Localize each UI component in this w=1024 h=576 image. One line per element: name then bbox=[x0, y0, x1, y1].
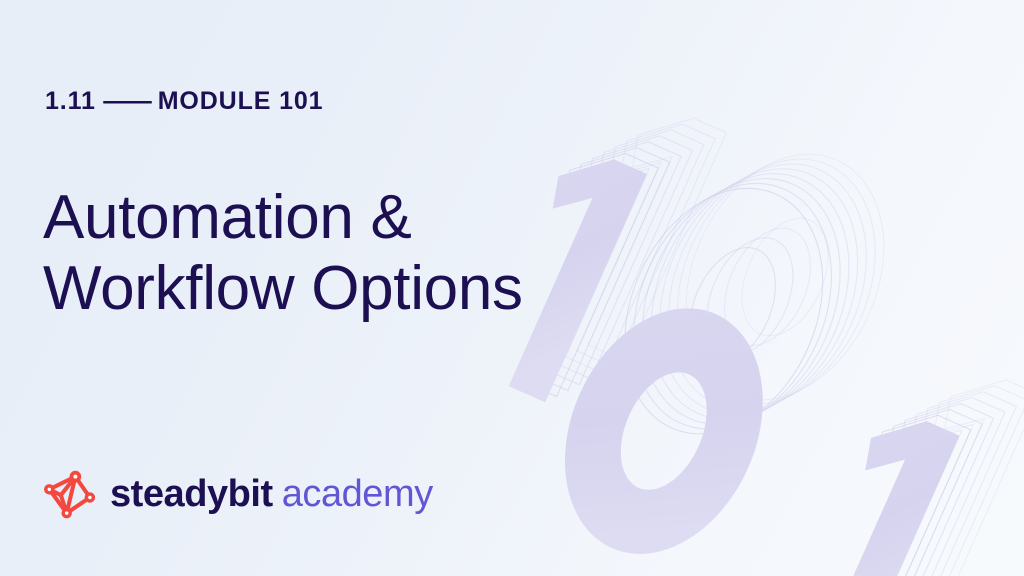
eyebrow-number: 1.11 bbox=[45, 87, 96, 115]
slide-canvas: 1.11 —— MODULE 101 Automation & Workflow… bbox=[0, 0, 1024, 576]
eyebrow-separator-dash: —— bbox=[96, 87, 158, 115]
deco-one-right-solid bbox=[785, 403, 960, 576]
logo-wordmark: steadybitacademy bbox=[110, 475, 433, 513]
logo-product-text: academy bbox=[282, 473, 433, 515]
title-line-2: Workflow Options bbox=[43, 253, 523, 325]
deco-one-right-ghosts bbox=[796, 343, 1024, 576]
steadybit-node-graph-icon bbox=[40, 465, 98, 523]
logo-brand-text: steadybit bbox=[110, 473, 273, 515]
steadybit-academy-logo: steadybitacademy bbox=[40, 465, 433, 523]
eyebrow-label: MODULE 101 bbox=[158, 87, 324, 115]
module-eyebrow: 1.11 —— MODULE 101 bbox=[45, 89, 323, 114]
page-title: Automation & Workflow Options bbox=[43, 182, 523, 326]
deco-zero-solid bbox=[528, 277, 800, 576]
title-line-1: Automation & bbox=[43, 182, 523, 254]
deco-zero-ghosts bbox=[588, 106, 921, 483]
